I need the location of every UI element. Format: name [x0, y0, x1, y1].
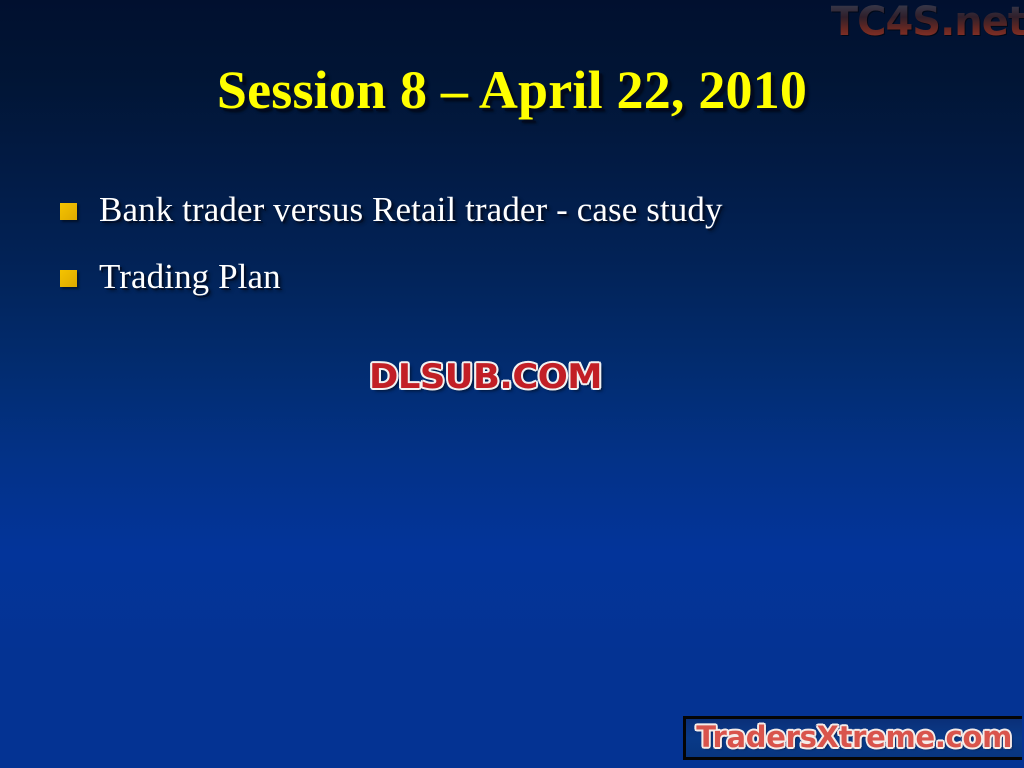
square-bullet-icon [60, 203, 77, 220]
watermark-tradersxtreme: TradersXtreme.com [683, 716, 1022, 760]
bullet-item-label: Bank trader versus Retail trader - case … [99, 188, 723, 233]
bullet-item: Bank trader versus Retail trader - case … [60, 188, 960, 233]
watermark-tc4s: TC4S.net [831, 2, 1024, 42]
slide-bullet-list: Bank trader versus Retail trader - case … [60, 188, 960, 322]
bullet-item-label: Trading Plan [99, 255, 281, 300]
slide-title: Session 8 – April 22, 2010 [0, 62, 1024, 119]
watermark-dlsub: DLSUB.COM [369, 360, 602, 394]
bullet-item: Trading Plan [60, 255, 960, 300]
presentation-slide: Session 8 – April 22, 2010 Bank trader v… [0, 0, 1024, 768]
square-bullet-icon [60, 270, 77, 287]
